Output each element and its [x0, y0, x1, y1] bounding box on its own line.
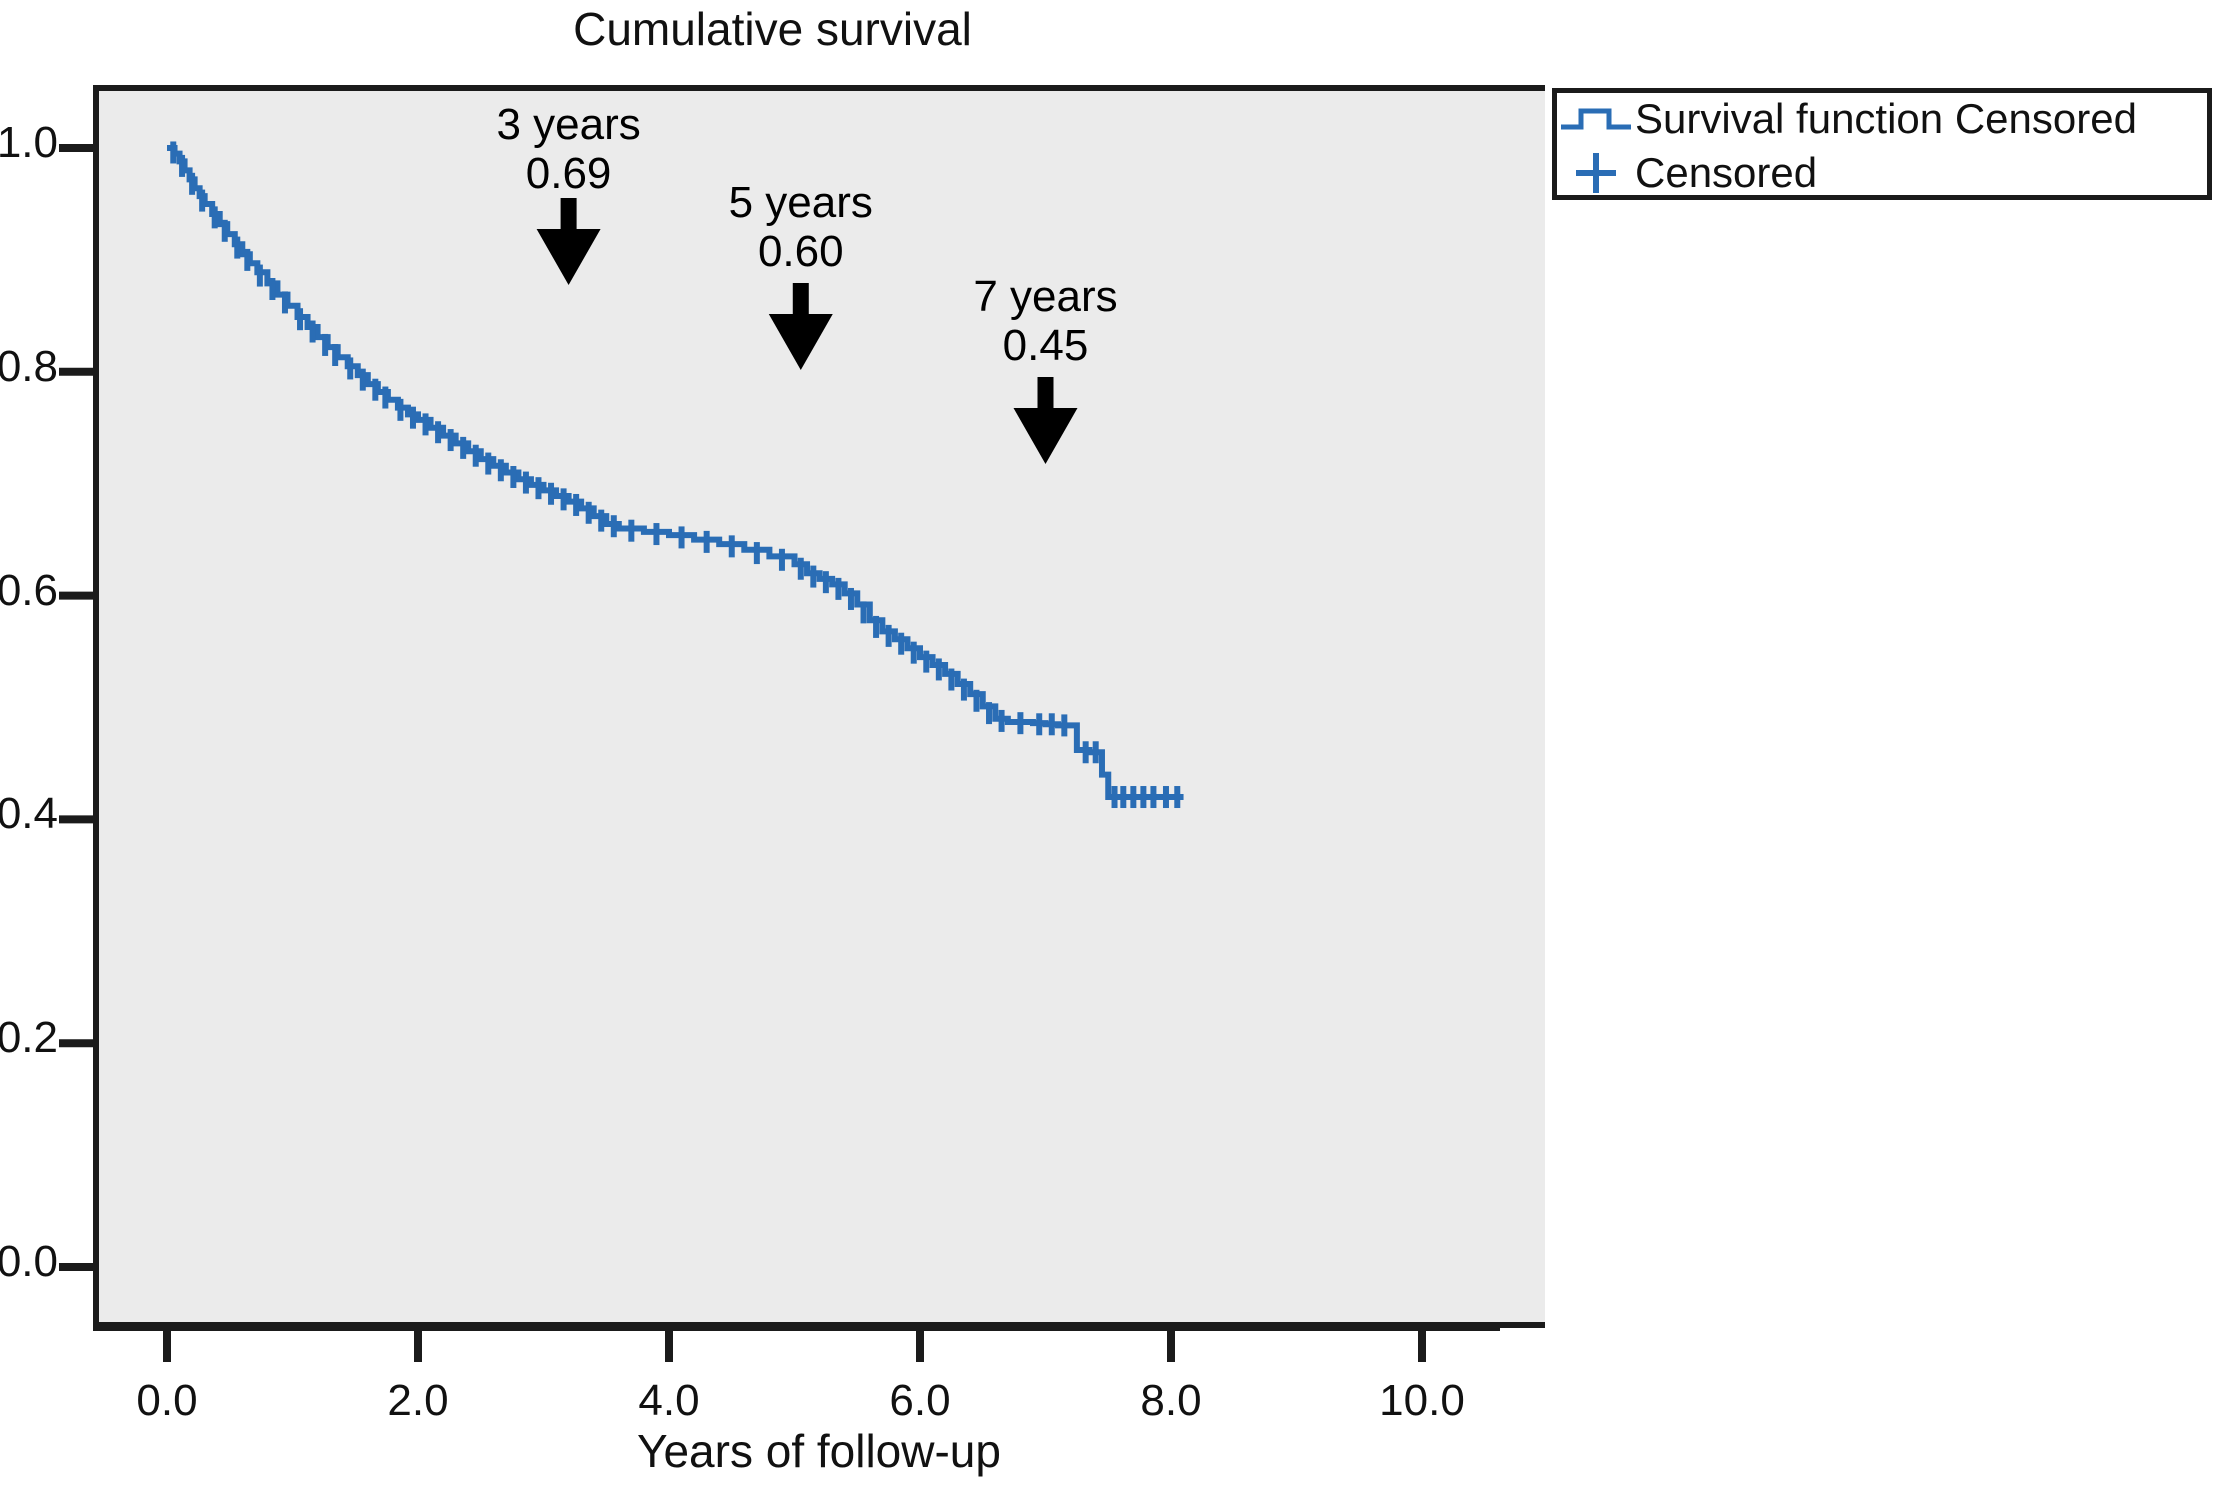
y-tick-label-0.4: 0.4 [0, 789, 58, 839]
annotation-7-years: 7 years 0.45 [881, 272, 1211, 371]
legend-box: Survival function Censored Censored [1552, 88, 2212, 200]
x-tick-label-6.0: 6.0 [840, 1376, 1000, 1426]
x-axis-title: Years of follow-up [93, 1424, 1545, 1478]
x-tick-label-10.0: 10.0 [1342, 1376, 1502, 1426]
legend-item-censored: Censored [1557, 145, 1817, 201]
chart-title: Cumulative survival [0, 2, 1545, 56]
annotation-year-label: 5 years [636, 178, 966, 227]
legend-label-survival-function: Survival function Censored [1635, 95, 2137, 143]
x-tick-label-8.0: 8.0 [1091, 1376, 1251, 1426]
legend-label-censored: Censored [1635, 149, 1817, 197]
y-tick-label-1.0: 1.0 [0, 118, 58, 168]
x-tick-label-0.0: 0.0 [87, 1376, 247, 1426]
y-tick-label-0.0: 0.0 [0, 1237, 58, 1287]
step-line-icon [1557, 94, 1635, 144]
annotation-value-label: 0.60 [636, 227, 966, 276]
annotation-5-years: 5 years 0.60 [636, 178, 966, 277]
annotation-year-label: 3 years [404, 100, 734, 149]
plus-icon [1557, 148, 1635, 198]
x-tick-label-2.0: 2.0 [338, 1376, 498, 1426]
y-tick-label-0.6: 0.6 [0, 566, 58, 616]
y-tick-label-0.2: 0.2 [0, 1013, 58, 1063]
y-tick-label-0.8: 0.8 [0, 342, 58, 392]
annotation-value-label: 0.45 [881, 321, 1211, 370]
annotation-year-label: 7 years [881, 272, 1211, 321]
x-tick-label-4.0: 4.0 [589, 1376, 749, 1426]
legend-item-survival-function: Survival function Censored [1557, 91, 2137, 147]
survival-chart-figure: Cumulative survival 1.0 0.8 0.6 0.4 0.2 … [0, 0, 2216, 1505]
